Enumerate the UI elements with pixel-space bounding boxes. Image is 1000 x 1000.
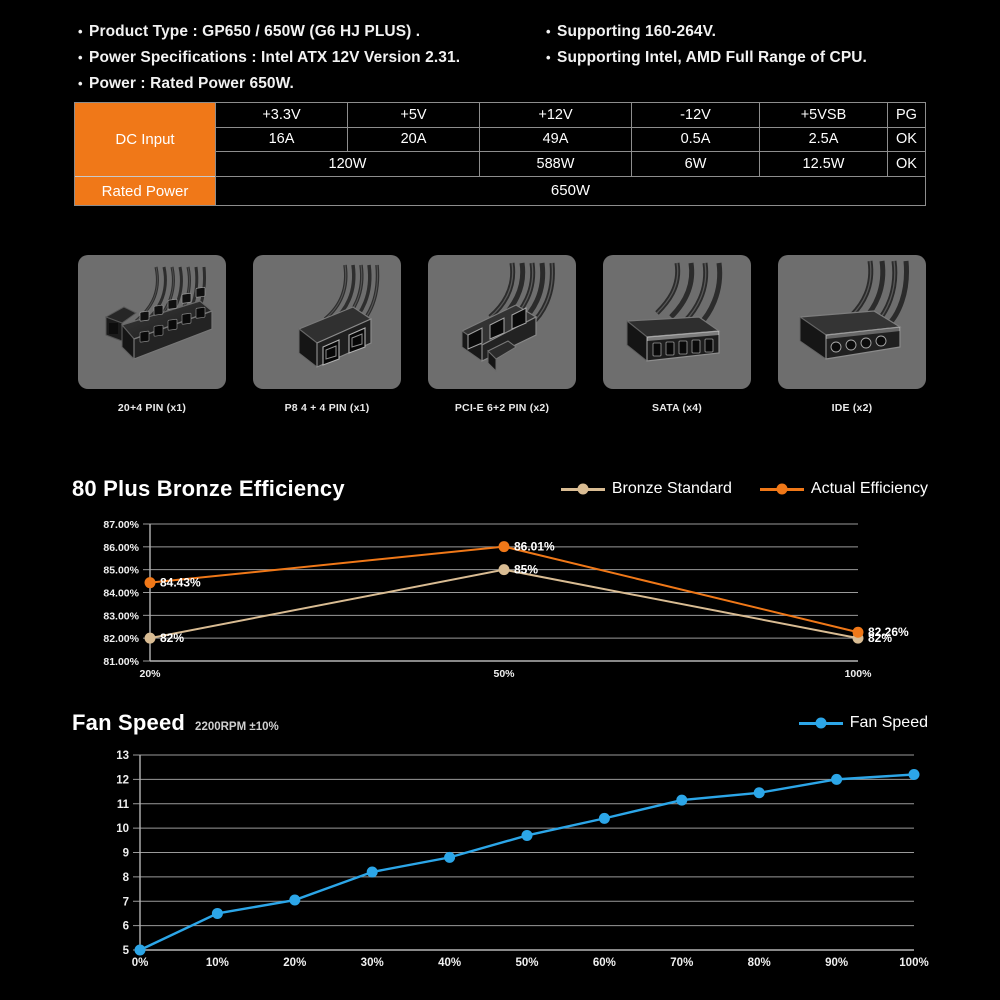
- data-point: [676, 795, 687, 806]
- product-spec-page: • Product Type : GP650 / 650W (G6 HJ PLU…: [0, 0, 1000, 1000]
- spec-item: • Power Specifications : Intel ATX 12V V…: [78, 48, 546, 68]
- fan-chart-header: Fan Speed 2200RPM ±10% Fan Speed: [72, 710, 928, 736]
- connector-item: P8 4 + 4 PIN (x1): [253, 255, 401, 414]
- bullet-icon: •: [78, 48, 89, 68]
- data-point-label: 82.26%: [868, 625, 909, 639]
- data-point-label: 85%: [514, 563, 538, 577]
- data-point: [499, 564, 510, 575]
- connector-item: 20+4 PIN (x1): [78, 255, 226, 414]
- efficiency-chart-plot: 81.00%82.00%83.00%84.00%85.00%86.00%87.0…: [72, 514, 928, 689]
- y-axis-tick-label: 82.00%: [103, 633, 139, 645]
- cell-current-5v: 20A: [348, 128, 480, 152]
- legend-label: Bronze Standard: [612, 480, 732, 498]
- data-point: [145, 633, 156, 644]
- specifications-list: • Product Type : GP650 / 650W (G6 HJ PLU…: [78, 22, 958, 94]
- data-point: [367, 867, 378, 878]
- legend-item-actual-efficiency: Actual Efficiency: [760, 480, 928, 498]
- connector-label: 20+4 PIN (x1): [118, 402, 186, 414]
- y-axis-tick-label: 12: [116, 774, 129, 786]
- table-row-header-column: DC Input Rated Power: [75, 103, 215, 205]
- x-axis-tick-label: 100%: [899, 957, 928, 969]
- connector-label: PCI-E 6+2 PIN (x2): [455, 402, 549, 414]
- fan-chart-title: Fan Speed: [72, 710, 185, 736]
- spec-text: Product Type : GP650 / 650W (G6 HJ PLUS)…: [89, 22, 420, 42]
- x-axis-tick-label: 40%: [438, 957, 461, 969]
- table-row-watts: 120W 588W 6W 12.5W OK: [216, 152, 925, 177]
- cell-current-33v: 16A: [216, 128, 348, 152]
- legend-line-icon: [799, 722, 843, 725]
- bullet-icon: •: [78, 74, 89, 94]
- series-line: [150, 547, 858, 633]
- atx-24pin-connector-icon: [78, 255, 226, 389]
- data-point: [853, 627, 864, 638]
- row-header-rated-power: Rated Power: [75, 177, 215, 205]
- data-point-label: 82%: [160, 631, 184, 645]
- y-axis-tick-label: 86.00%: [103, 542, 139, 554]
- cell-current-12v: 49A: [480, 128, 632, 152]
- fan-legend: Fan Speed: [799, 714, 928, 732]
- y-axis-tick-label: 6: [123, 921, 129, 933]
- x-axis-tick-label: 20%: [139, 668, 161, 680]
- spec-text: Supporting 160-264V.: [557, 22, 716, 42]
- data-point: [499, 541, 510, 552]
- cell-watts-5vsb: 12.5W: [760, 152, 888, 176]
- y-axis-tick-label: 85.00%: [103, 565, 139, 577]
- x-axis-tick-label: 0%: [132, 957, 149, 969]
- table-row-currents: 16A 20A 49A 0.5A 2.5A OK: [216, 128, 925, 153]
- bullet-icon: •: [546, 48, 557, 68]
- data-point-label: 86.01%: [514, 540, 555, 554]
- spec-item: • Supporting Intel, AMD Full Range of CP…: [546, 48, 958, 68]
- data-point: [909, 769, 920, 780]
- x-axis-tick-label: 50%: [515, 957, 538, 969]
- spec-item: • Power : Rated Power 650W.: [78, 74, 546, 94]
- y-axis-tick-label: 84.00%: [103, 588, 139, 600]
- spec-text: Supporting Intel, AMD Full Range of CPU.: [557, 48, 867, 68]
- table-body: +3.3V +5V +12V -12V +5VSB PG 16A 20A 49A…: [215, 103, 925, 205]
- y-axis-tick-label: 10: [116, 823, 129, 835]
- connector-gallery: 20+4 PIN (x1): [78, 255, 926, 414]
- series-line: [140, 775, 914, 951]
- x-axis-tick-label: 30%: [361, 957, 384, 969]
- fan-chart-plot: 56789101112130%10%20%30%40%50%60%70%80%9…: [72, 745, 928, 980]
- x-axis-tick-label: 50%: [493, 668, 515, 680]
- table-row-rails: +3.3V +5V +12V -12V +5VSB PG: [216, 103, 925, 128]
- dc-output-table: DC Input Rated Power +3.3V +5V +12V -12V…: [74, 102, 926, 206]
- y-axis-tick-label: 5: [123, 945, 130, 957]
- y-axis-tick-label: 8: [123, 872, 130, 884]
- bullet-icon: •: [78, 22, 89, 42]
- efficiency-legend: Bronze Standard Actual Efficiency: [561, 480, 928, 498]
- eps-8pin-connector-icon: [253, 255, 401, 389]
- sata-connector-icon: [603, 255, 751, 389]
- x-axis-tick-label: 60%: [593, 957, 616, 969]
- y-axis-tick-label: 81.00%: [103, 656, 139, 668]
- fan-chart-subtitle: 2200RPM ±10%: [195, 721, 279, 733]
- legend-line-icon: [561, 488, 605, 491]
- y-axis-tick-label: 7: [123, 896, 129, 908]
- cell-rail-12v: +12V: [480, 103, 632, 127]
- connector-item: PCI-E 6+2 PIN (x2): [428, 255, 576, 414]
- data-point: [289, 895, 300, 906]
- x-axis-tick-label: 90%: [825, 957, 848, 969]
- data-point: [754, 787, 765, 798]
- connector-label: IDE (x2): [832, 402, 873, 414]
- data-point: [831, 774, 842, 785]
- x-axis-tick-label: 70%: [670, 957, 693, 969]
- y-axis-tick-label: 11: [117, 799, 130, 811]
- specs-column-right: • Supporting 160-264V. • Supporting Inte…: [546, 22, 958, 94]
- y-axis-tick-label: 13: [116, 750, 129, 762]
- legend-label: Actual Efficiency: [811, 480, 928, 498]
- data-point: [135, 945, 146, 956]
- x-axis-tick-label: 80%: [748, 957, 771, 969]
- table-row-rated-power: 650W: [216, 177, 925, 205]
- legend-item-bronze-standard: Bronze Standard: [561, 480, 732, 498]
- data-point: [212, 908, 223, 919]
- connector-label: SATA (x4): [652, 402, 702, 414]
- data-point: [145, 577, 156, 588]
- cell-watts-combined-33v-5v: 120W: [216, 152, 480, 176]
- x-axis-tick-label: 20%: [283, 957, 306, 969]
- spec-item: • Product Type : GP650 / 650W (G6 HJ PLU…: [78, 22, 546, 42]
- y-axis-tick-label: 87.00%: [103, 519, 139, 531]
- cell-current-neg12v: 0.5A: [632, 128, 760, 152]
- efficiency-chart-header: 80 Plus Bronze Efficiency Bronze Standar…: [72, 476, 928, 502]
- cell-rail-5vsb: +5VSB: [760, 103, 888, 127]
- efficiency-chart-title: 80 Plus Bronze Efficiency: [72, 476, 345, 502]
- spec-text: Power Specifications : Intel ATX 12V Ver…: [89, 48, 460, 68]
- cell-rail-33v: +3.3V: [216, 103, 348, 127]
- cell-rated-power-value: 650W: [216, 177, 925, 205]
- cell-current-pg: OK: [888, 128, 925, 152]
- efficiency-line-chart: 81.00%82.00%83.00%84.00%85.00%86.00%87.0…: [72, 514, 928, 689]
- cell-rail-pg: PG: [888, 103, 925, 127]
- connector-label: P8 4 + 4 PIN (x1): [285, 402, 370, 414]
- y-axis-tick-label: 83.00%: [103, 610, 139, 622]
- data-point: [599, 813, 610, 824]
- cell-rail-neg12v: -12V: [632, 103, 760, 127]
- x-axis-tick-label: 10%: [206, 957, 229, 969]
- series-line: [150, 570, 858, 639]
- data-point: [522, 830, 533, 841]
- connector-item: SATA (x4): [603, 255, 751, 414]
- legend-label: Fan Speed: [850, 714, 928, 732]
- specs-column-left: • Product Type : GP650 / 650W (G6 HJ PLU…: [78, 22, 546, 94]
- fan-speed-line-chart: 56789101112130%10%20%30%40%50%60%70%80%9…: [72, 745, 928, 980]
- molex-ide-connector-icon: [778, 255, 926, 389]
- cell-current-5vsb: 2.5A: [760, 128, 888, 152]
- cell-watts-neg12v: 6W: [632, 152, 760, 176]
- data-point: [444, 852, 455, 863]
- bullet-icon: •: [546, 22, 557, 42]
- legend-line-icon: [760, 488, 804, 491]
- data-point-label: 84.43%: [160, 576, 201, 590]
- cell-watts-12v: 588W: [480, 152, 632, 176]
- x-axis-tick-label: 100%: [845, 668, 873, 680]
- cell-watts-pg: OK: [888, 152, 925, 176]
- row-header-dc-input: DC Input: [75, 103, 215, 177]
- spec-item: • Supporting 160-264V.: [546, 22, 958, 42]
- cell-rail-5v: +5V: [348, 103, 480, 127]
- spec-text: Power : Rated Power 650W.: [89, 74, 294, 94]
- y-axis-tick-label: 9: [123, 848, 129, 860]
- legend-item-fan-speed: Fan Speed: [799, 714, 928, 732]
- connector-item: IDE (x2): [778, 255, 926, 414]
- pcie-8pin-connector-icon: [428, 255, 576, 389]
